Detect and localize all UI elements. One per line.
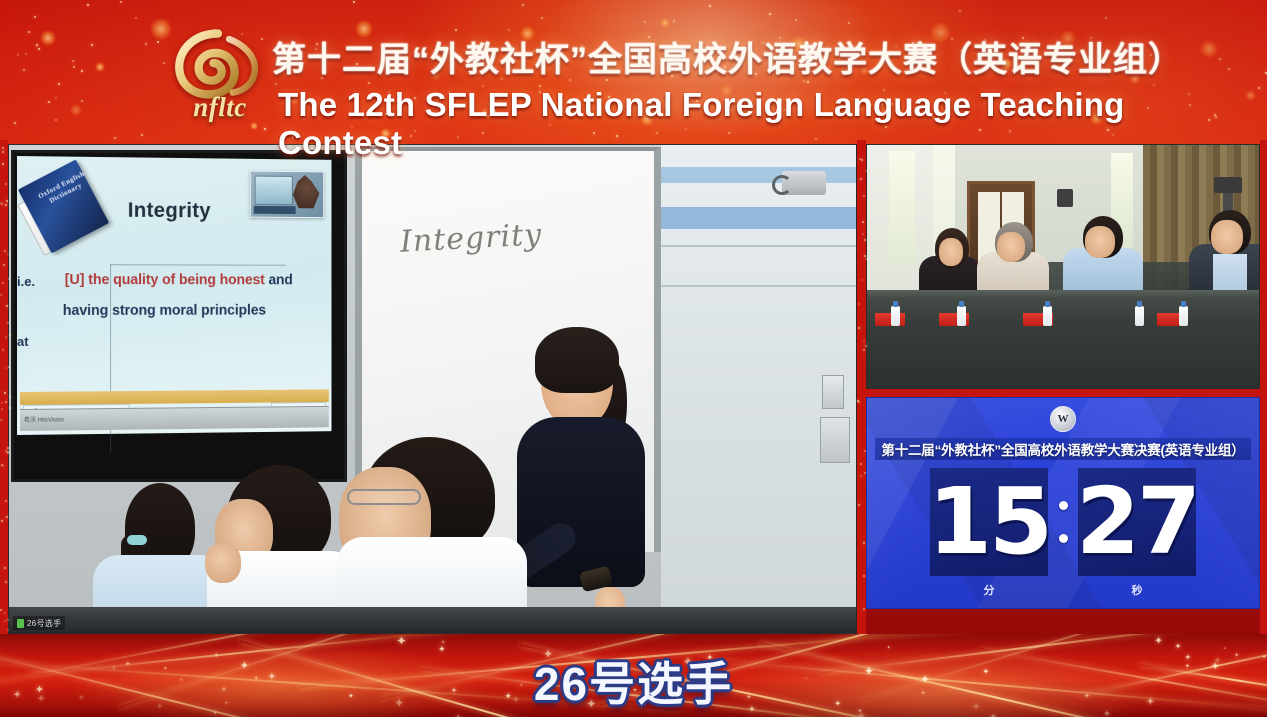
- timer-seconds-box: 27: [1078, 468, 1196, 576]
- sparkle: [4, 612, 6, 614]
- sparkle: [858, 401, 860, 403]
- sparkle: [860, 463, 862, 465]
- sparkle: ✦: [396, 635, 406, 647]
- sparkle: [7, 447, 9, 449]
- frame-edge-right: [1260, 140, 1267, 640]
- classroom-desk: [9, 607, 856, 633]
- glasses-icon: [347, 489, 421, 505]
- sparkle: ✦: [440, 639, 447, 647]
- sparkle: [5, 204, 7, 206]
- wall-cabinet: [820, 417, 850, 463]
- sparkle: [6, 516, 8, 518]
- sparkle: [6, 200, 8, 202]
- sparkle: [863, 349, 865, 351]
- sparkle: [2, 163, 4, 165]
- sparkle: [863, 195, 865, 197]
- sparkle: [1, 520, 3, 522]
- main-video-feed[interactable]: Integrity Oxford English Dictionary Inte…: [8, 144, 857, 634]
- sparkle: [7, 451, 9, 453]
- shield-emblem-icon: W: [1050, 406, 1076, 432]
- slide-definition-tail: and: [265, 273, 293, 289]
- frame-edge-middle: [857, 140, 866, 640]
- video-watermark: 26号选手: [13, 616, 65, 630]
- slide-divider: [110, 264, 286, 265]
- sparkle: [9, 396, 11, 398]
- sparkle: [1, 402, 3, 404]
- sparkle: [5, 183, 7, 185]
- student-figure: [337, 433, 527, 633]
- contest-header: nfltc 第十二届“外教社杯”全国高校外语教学大赛（英语专业组） The 12…: [0, 0, 1267, 140]
- classroom-right-wall: [661, 145, 856, 633]
- water-bottle: [957, 306, 966, 326]
- smartboard-taskbar-label: 希沃 HitsVision: [24, 415, 64, 424]
- watermark-icon: [17, 619, 24, 628]
- sparkle: [7, 629, 9, 631]
- broadcast-stage: nfltc 第十二届“外教社杯”全国高校外语教学大赛（英语专业组） The 12…: [0, 0, 1267, 717]
- wall-stripe: [661, 167, 856, 183]
- slide-marker-ie: i.e.: [17, 274, 35, 289]
- projector-mount-icon: [782, 171, 826, 195]
- timer-minutes-unit: 分: [930, 582, 1048, 598]
- timer-subtitle: 第十二届“外教社杯”全国高校外语教学大赛决赛(英语专业组）: [875, 438, 1251, 460]
- slide-definition-highlight: [U] the quality of being honest: [65, 272, 265, 288]
- timer-seconds-unit: 秒: [1078, 582, 1196, 598]
- timer-minutes-value: 15: [928, 476, 1050, 568]
- countdown-timer-panel: W 第十二届“外教社杯”全国高校外语教学大赛决赛(英语专业组） 15 27 分 …: [866, 397, 1260, 609]
- dictionary-book-image: Oxford English Dictionary: [23, 164, 108, 248]
- slide-marker-at: at: [17, 334, 29, 349]
- sparkle: ✦: [1154, 636, 1163, 647]
- slide-definition-line1: [U] the quality of being honest and: [65, 272, 332, 288]
- sparkle: [9, 407, 11, 409]
- spiral-emblem-icon: [170, 28, 266, 100]
- slide-thumbnail-image: [250, 171, 324, 219]
- sparkle: [864, 255, 866, 257]
- contest-title-chinese: 第十二届“外教社杯”全国高校外语教学大赛（英语专业组）: [272, 32, 1172, 81]
- sparkle: [863, 542, 865, 544]
- timer-unit-labels: 分 秒: [867, 580, 1259, 600]
- watermark-label: 26号选手: [27, 618, 61, 629]
- sparkle: [0, 609, 2, 611]
- sparkle: [862, 221, 864, 223]
- sparkle: [866, 258, 868, 260]
- contestant-caption: 26号选手: [0, 648, 1267, 714]
- slide-title: Integrity: [128, 199, 211, 223]
- sparkle: [9, 334, 11, 336]
- wall-stripe: [661, 207, 856, 229]
- smartboard[interactable]: Oxford English Dictionary Integrity i.e.…: [11, 150, 347, 482]
- classroom-scene: Integrity Oxford English Dictionary Inte…: [9, 145, 856, 633]
- contest-title-english: The 12th SFLEP National Foreign Language…: [278, 86, 1218, 162]
- sparkle: [8, 366, 10, 368]
- sparkle: [5, 367, 7, 369]
- judges-hall-scene: [867, 145, 1259, 388]
- sparkle: [858, 327, 860, 329]
- timer-colon-icon: [1052, 468, 1074, 576]
- slide-definition-line2: having strong moral principles: [63, 303, 330, 319]
- judges-table: [867, 296, 1259, 388]
- timer-seconds-value: 27: [1076, 476, 1198, 568]
- water-bottle: [1135, 306, 1144, 326]
- sparkle: [5, 500, 7, 502]
- sparkle: [4, 620, 6, 622]
- bottom-banner: ✦✦✦✦✦✦✦✦✦✦✦✦✦✦✦✦✦✦✦✦✦✦✦✦✦✦✦✦✦✦✦✦✦✦✦✦✦✦✦✦…: [0, 634, 1267, 717]
- frame-edge-left: [0, 140, 8, 640]
- hall-window: [889, 151, 915, 263]
- water-bottle: [1043, 306, 1052, 326]
- water-bottle: [1179, 306, 1188, 326]
- presentation-slide: Oxford English Dictionary Integrity i.e.…: [17, 156, 332, 435]
- judge-figure: [1189, 210, 1260, 302]
- sparkle: [862, 233, 864, 235]
- sparkle: [866, 170, 868, 172]
- smartboard-taskbar: 希沃 HitsVision: [20, 406, 329, 431]
- judge-name-card: [875, 313, 905, 326]
- sparkle: [4, 567, 6, 569]
- nfltc-wordmark: nfltc: [168, 92, 272, 123]
- sparkle: [8, 278, 10, 280]
- judges-video-feed[interactable]: [866, 144, 1260, 389]
- wall-speaker-icon: [1057, 189, 1073, 207]
- frame-edge-divider: [866, 389, 1260, 397]
- timer-clock: 15 27: [867, 466, 1259, 578]
- timer-minutes-box: 15: [930, 468, 1048, 576]
- whiteboard-handwriting: Integrity: [399, 217, 543, 259]
- wall-outlet: [822, 375, 844, 409]
- water-bottle: [891, 306, 900, 326]
